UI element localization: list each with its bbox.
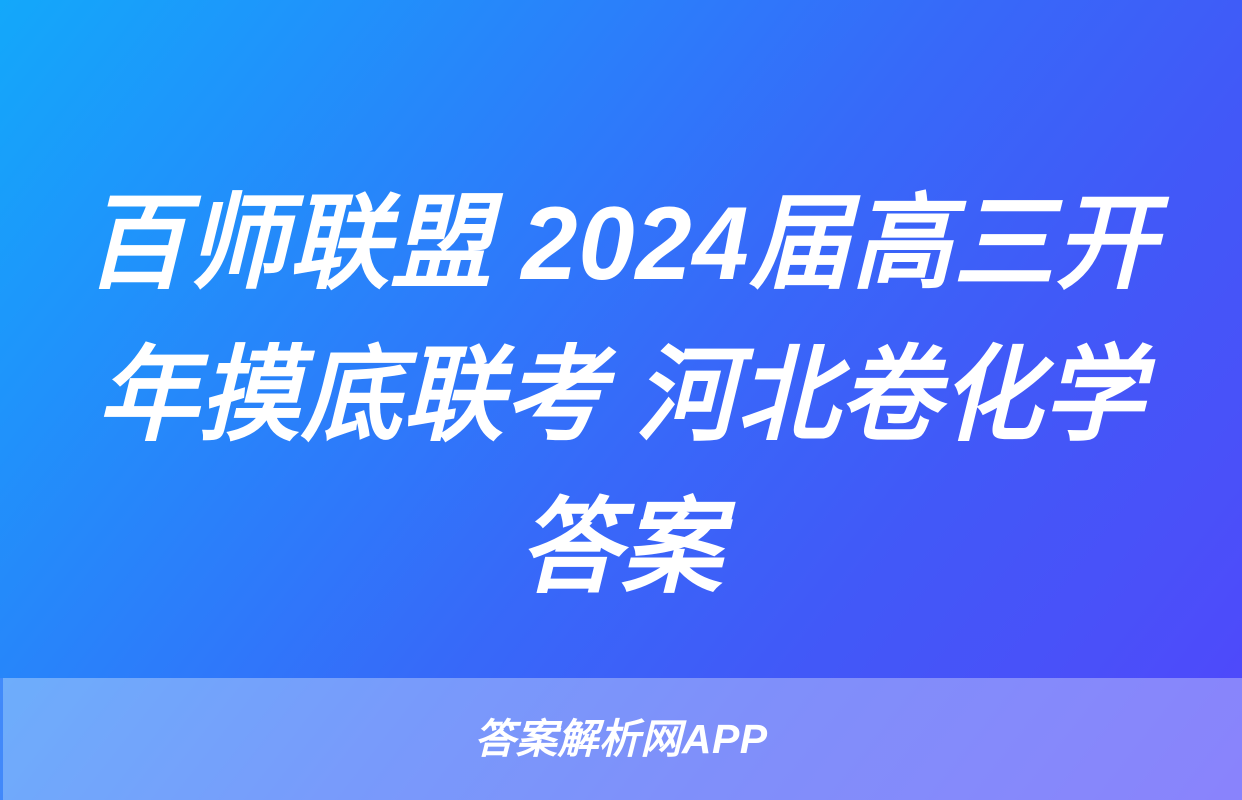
watermark-band: 答案解析网APP (0, 678, 1242, 800)
poster-canvas: 百师联盟 2024届高三开 年摸底联考 河北卷化学 答案 答案解析网APP (0, 0, 1242, 800)
watermark-label: 答案解析网APP (474, 719, 767, 760)
title-line-1: 百师联盟 2024届高三开 (54, 168, 1189, 320)
band-left-edge (0, 678, 3, 800)
title-line-3: 答案 (54, 472, 1189, 624)
page-title: 百师联盟 2024届高三开 年摸底联考 河北卷化学 答案 (0, 168, 1242, 638)
title-line-2: 年摸底联考 河北卷化学 (54, 320, 1189, 472)
